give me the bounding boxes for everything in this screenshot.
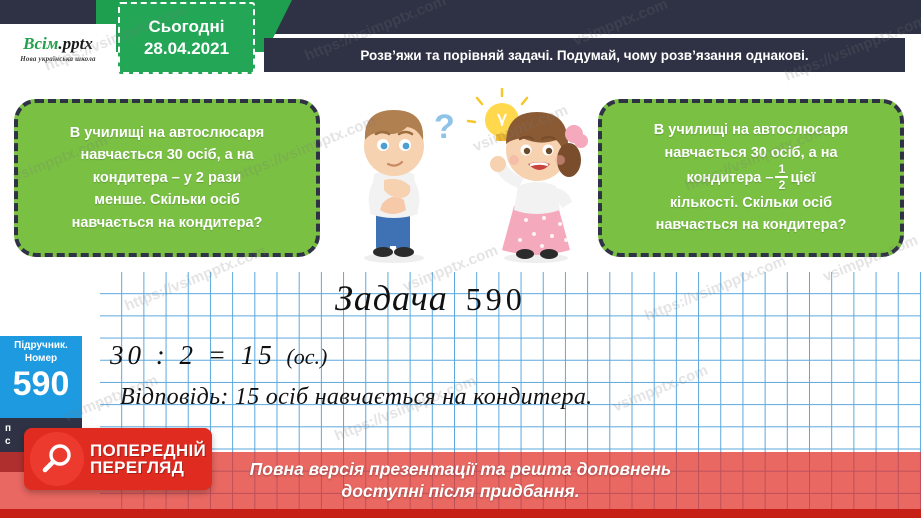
preview-badge-line1: ПОПЕРЕДНІЙ (90, 442, 206, 459)
logo-wordmark: Всім.pptx (23, 35, 93, 52)
task-left-text: В училищі на автослюсаря навчається 30 о… (70, 122, 264, 234)
brand-logo: Всім.pptx Нова українська школа (0, 24, 116, 74)
preview-badge-text: ПОПЕРЕДНІЙ ПЕРЕГЛЯД (90, 442, 206, 477)
handwritten-equation: 30 : 2 = 15 (ос.) (110, 340, 327, 371)
date-badge-value: 28.04.2021 (144, 40, 229, 59)
task-right-line5: навчається на кондитера? (656, 217, 847, 233)
slide-root: Всім.pptx Нова українська школа Сьогодні… (0, 0, 921, 518)
task-left-line2: навчається 30 осіб, а на (80, 147, 253, 163)
task-right-text: В училищі на автослюсаря навчається 30 о… (654, 119, 848, 237)
magnifier-icon (30, 432, 84, 486)
task-right-line3-post: цієї (790, 170, 815, 186)
task-left-line1: В училищі на автослюсаря (70, 125, 264, 141)
page-title: Розв’яжи та порівняй задачі. Подумай, чо… (360, 48, 808, 63)
textbook-label-line1: Підручник. (0, 340, 82, 353)
textbook-number-value: 590 (0, 367, 82, 401)
question-mark-icon: ? (434, 108, 455, 146)
illustration-kids: ? (338, 88, 602, 264)
handwritten-answer: Відповідь: 15 осіб навчається на кондите… (120, 384, 592, 411)
task-right-line4: кількості. Скільки осіб (670, 195, 832, 211)
fraction-one-half: 12 (775, 163, 788, 191)
fraction-denominator: 2 (779, 179, 786, 191)
task-left-line3: кондитера – у 2 рази (93, 170, 241, 186)
date-badge: Сьогодні 28.04.2021 (118, 2, 255, 74)
thinking-boy (364, 110, 424, 263)
equation-expression: 30 : 2 = 15 (110, 340, 276, 370)
preview-badge[interactable]: ПОПЕРЕДНІЙ ПЕРЕГЛЯД (24, 428, 212, 490)
task-left-line4: менше. Скільки осіб (94, 192, 240, 208)
task-right-line1: В училищі на автослюсаря (654, 122, 848, 138)
logo-word-second: pptx (63, 34, 93, 53)
task-right-line2: навчається 30 осіб, а на (664, 145, 837, 161)
task-card-right: В училищі на автослюсаря навчається 30 о… (598, 99, 904, 257)
task-card-left: В училищі на автослюсаря навчається 30 о… (14, 99, 320, 257)
date-badge-label: Сьогодні (149, 18, 225, 37)
textbook-number-block: Підручник. Номер 590 (0, 336, 82, 418)
header-title-bar: Розв’яжи та порівняй задачі. Подумай, чо… (264, 38, 905, 72)
purchase-notice-line1: Повна версія презентації та решта доповн… (250, 459, 672, 481)
preview-badge-line2: ПЕРЕГЛЯД (90, 459, 206, 476)
handwritten-task-title: Задача590 (335, 277, 526, 319)
handwritten-task-word: Задача (335, 278, 448, 318)
handwritten-task-number: 590 (466, 281, 526, 317)
logo-word-first: Всім (23, 34, 58, 53)
task-left-line5: навчається на кондитера? (72, 215, 263, 231)
purchase-notice-line2: доступні після придбання. (341, 481, 579, 503)
logo-subtitle: Нова українська школа (20, 55, 95, 63)
equation-unit: (ос.) (286, 344, 327, 369)
task-right-line3-pre: кондитера – (686, 170, 773, 186)
fraction-numerator: 1 (779, 163, 786, 175)
textbook-label-line2: Номер (0, 353, 82, 366)
